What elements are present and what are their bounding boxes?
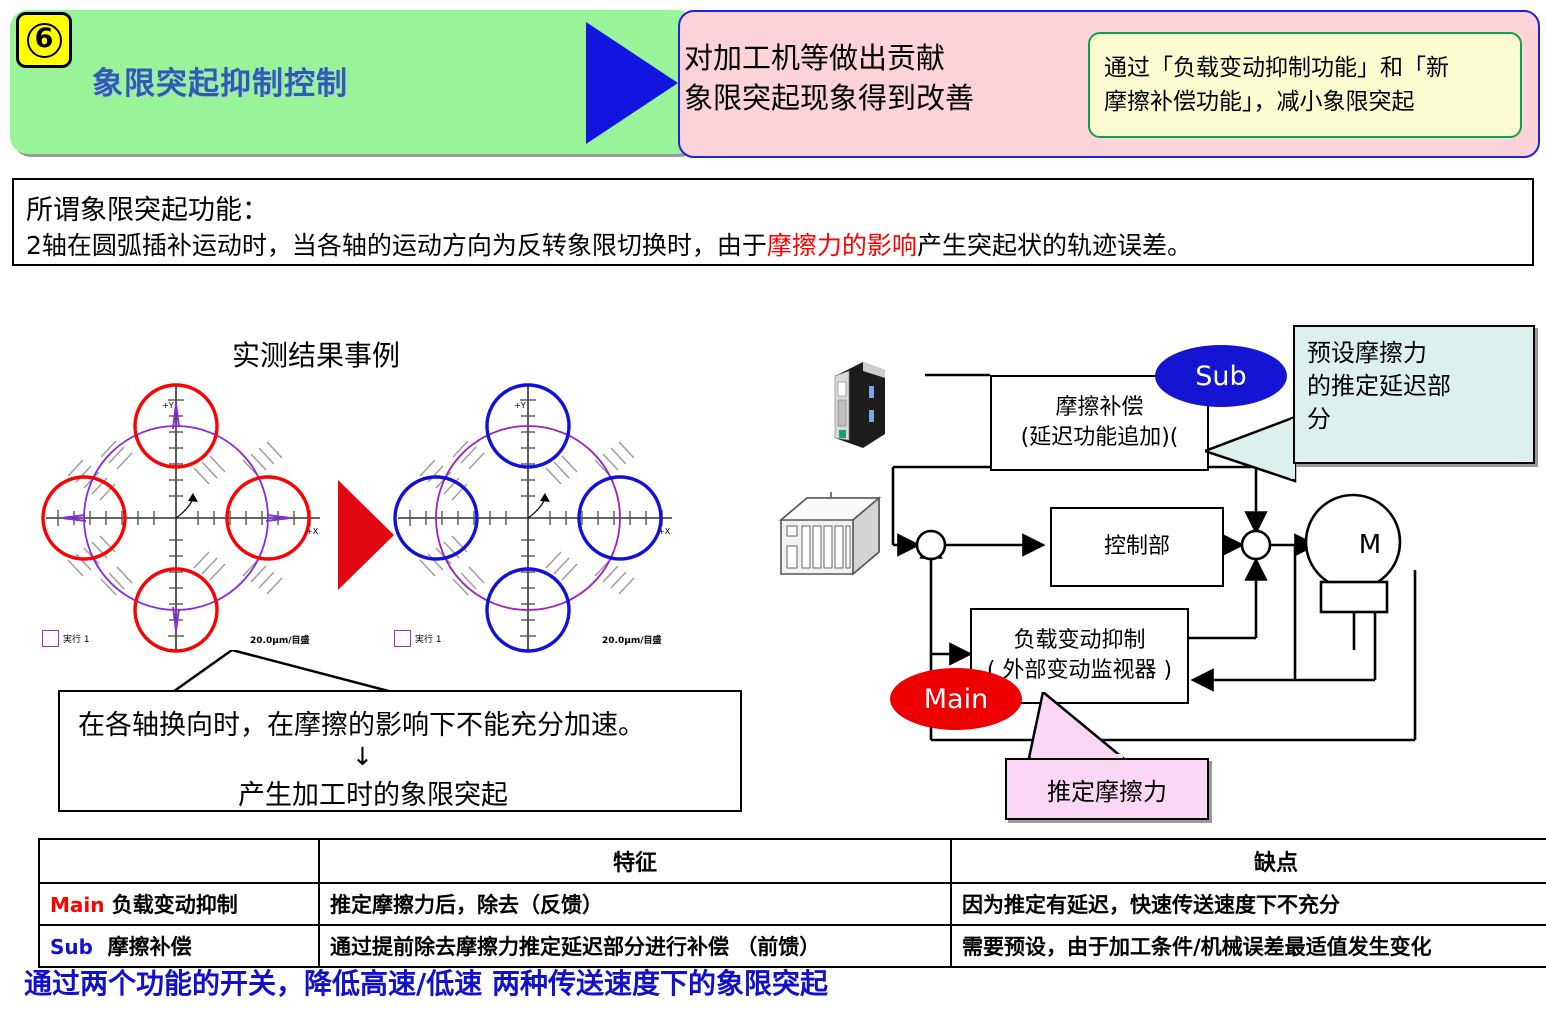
right-arrow-icon [586,18,678,148]
description-line2-pre: 2轴在圆弧插补运动时，当各轴的运动方向为反转象限切换时，由于 [26,231,767,260]
cnc-controller-icon [775,490,887,580]
measured-results-title: 实测结果事例 [232,334,400,374]
header-yellow-line1: 通过「负载变动抑制功能」和「新 [1104,51,1449,85]
servo-amplifier-icon [823,358,891,458]
friction-compensation-line1: 摩擦补偿 [1055,393,1143,423]
slide-number-badge: 6 [16,12,72,68]
table-cell-feature-main: 推定摩擦力后，除去（反馈） [319,883,951,925]
transition-arrow-icon [338,480,394,590]
table-cell-feature-sub: 通过提前除去摩擦力推定延迟部分进行补偿 （前馈） [319,925,951,967]
page-title: 象限突起抑制控制 [92,58,348,103]
header-yellow-text: 通过「负载变动抑制功能」和「新 摩擦补偿功能」，减小象限突起 [1090,51,1463,119]
header-benefit-text: 对加工机等做出贡献 象限突起现象得到改善 [684,38,1014,118]
load-disturbance-line2: ( 外部变动监视器 ) [987,656,1172,686]
motor-label: M [1330,525,1410,565]
svg-text:+X: +X [658,527,671,536]
table-row: Main 负载变动抑制 推定摩擦力后，除去（反馈） 因为推定有延迟，快速传送速度… [39,883,1546,925]
description-line1: 所谓象限突起功能： [26,188,269,227]
friction-compensation-line3: ( [1170,425,1179,450]
sub-badge: Sub [1155,345,1287,407]
row-tag-sub: Sub [50,935,93,959]
chart-before-legend-label: 実行 1 [63,632,90,645]
table-row: Sub 摩擦补偿 通过提前除去摩擦力推定延迟部分进行补偿 （前馈） 需要预设，由… [39,925,1546,967]
table-cell-drawback-main: 因为推定有延迟，快速传送速度下不充分 [951,883,1546,925]
description-line2: 2轴在圆弧插补运动时，当各轴的运动方向为反转象限切换时，由于摩擦力的影响产生突起… [26,226,1192,262]
pink-callout-pointer [1023,692,1173,762]
estimated-friction-callout: 推定摩擦力 [1005,758,1209,820]
row-name-main: 负载变动抑制 [112,893,238,917]
preset-friction-line2: 的推定延迟部 [1307,370,1521,403]
row-name-sub: 摩擦补偿 [108,935,192,959]
explanation-line2: 产生加工时的象限突起 [238,773,508,812]
table-cell-name-main: Main 负载变动抑制 [39,883,319,925]
chart-before-scale: 20.0μm/目盛 [250,633,310,646]
chart-after-svg: +Y +X [390,378,680,658]
estimated-friction-label: 推定摩擦力 [1047,772,1167,807]
chart-after-legend: 実行 1 [394,630,442,647]
callout-pointer [170,650,470,694]
control-unit-label: 控制部 [1104,532,1170,562]
chart-after-scale: 20.0μm/目盛 [602,633,662,646]
table-cell-drawback-sub: 需要预设，由于加工条件/机械误差最适值发生变化 [951,925,1546,967]
table-header-row: 特征 缺点 [39,839,1546,883]
row-tag-main: Main [50,893,105,917]
chart-before-svg: +Y +X [38,378,328,658]
header-benefit-line1: 对加工机等做出贡献 [684,38,1014,78]
preset-friction-callout: 预设摩擦力 的推定延迟部 分 [1293,325,1535,464]
svg-text:+Y: +Y [162,401,174,410]
table-cell-name-sub: Sub 摩擦补偿 [39,925,319,967]
comparison-table: 特征 缺点 Main 负载变动抑制 推定摩擦力后，除去（反馈） 因为推定有延迟，… [38,838,1546,968]
header-yellow-line2: 摩擦补偿功能」，减小象限突起 [1104,85,1449,119]
chart-before: +Y +X 実行 1 20.0μm/目盛 [38,378,328,658]
control-block-diagram: 摩擦补偿 (延迟功能追加)( 控制部 负载变动抑制 ( 外部变动监视器 ) M … [775,320,1545,820]
legend-swatch-icon [394,630,411,647]
main-badge: Main [890,668,1022,730]
table-header-drawback: 缺点 [951,839,1546,883]
description-line2-post: 产生突起状的轨迹误差。 [917,231,1192,260]
preset-friction-line3: 分 [1307,403,1521,436]
chart-after: +Y +X 実行 1 20.0μm/目盛 [390,378,680,658]
chart-before-legend: 実行 1 [42,630,90,647]
load-disturbance-line1: 负载变动抑制 [1013,626,1145,656]
table-header-feature: 特征 [319,839,951,883]
preset-friction-text: 预设摩擦力 的推定延迟部 分 [1295,327,1533,446]
description-highlight: 摩擦力的影响 [767,231,917,260]
legend-swatch-icon [42,630,59,647]
cyan-callout-pointer [1205,415,1300,485]
explanation-line1: 在各轴换向时，在摩擦的影响下不能充分加速。 [78,703,645,742]
control-unit-box: 控制部 [1050,507,1224,587]
header-benefit-line2: 象限突起现象得到改善 [684,78,1014,118]
preset-friction-line1: 预设摩擦力 [1307,337,1521,370]
footer-summary-text: 通过两个功能的开关，降低高速/低速 两种传送速度下的象限突起 [24,962,828,1002]
friction-compensation-line2: (延迟功能追加) [1021,425,1170,450]
slide-number-text: 6 [27,23,62,58]
header-yellow-callout: 通过「负载变动抑制功能」和「新 摩擦补偿功能」，减小象限突起 [1088,32,1522,138]
svg-text:+X: +X [306,527,319,536]
svg-text:+Y: +Y [514,401,526,410]
table-header-blank [39,839,319,883]
chart-after-legend-label: 実行 1 [415,632,442,645]
explanation-arrow-icon: ↓ [352,742,373,771]
